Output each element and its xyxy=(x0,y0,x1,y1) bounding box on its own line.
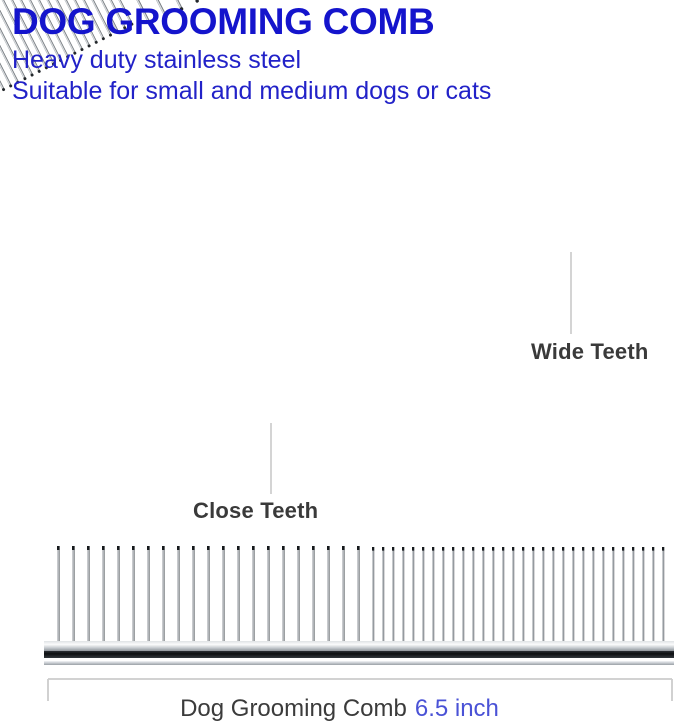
callout-label-close-teeth: Close Teeth xyxy=(193,498,318,524)
bottom-comb-close-teeth xyxy=(372,547,664,643)
caption-size-value: 6.5 inch xyxy=(415,695,499,722)
size-caption: Dog Grooming Comb6.5 inch xyxy=(0,695,679,723)
bottom-comb-wide-teeth xyxy=(57,546,360,643)
product-infographic: DOG GROOMING COMB Heavy duty stainless s… xyxy=(0,0,679,726)
subtitle-material: Heavy duty stainless steel xyxy=(12,45,301,75)
subtitle-suitability: Suitable for small and medium dogs or ca… xyxy=(12,76,491,106)
page-title: DOG GROOMING COMB xyxy=(12,0,434,44)
bottom-comb-spine-light xyxy=(44,641,674,651)
caption-product-name: Dog Grooming Comb xyxy=(180,695,407,722)
bottom-comb-spine-thin xyxy=(44,661,674,665)
bottom-comb-spine-dark xyxy=(44,651,674,658)
bottom-comb xyxy=(44,546,674,665)
callout-label-wide-teeth: Wide Teeth xyxy=(531,339,649,365)
